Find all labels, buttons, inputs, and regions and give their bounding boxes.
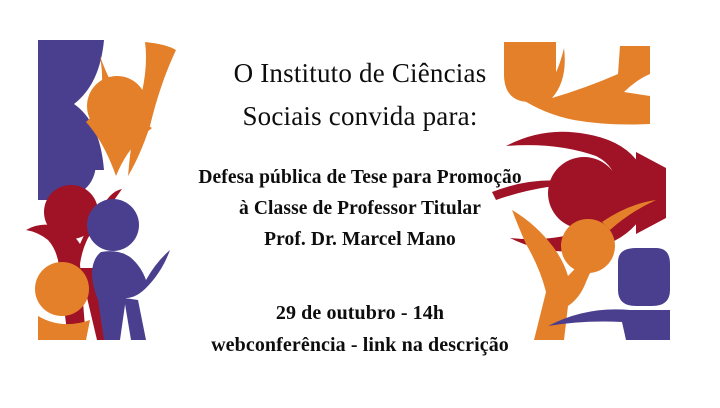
footer-line-1: 29 de outubro - 14h (276, 297, 444, 329)
body-line-3: Prof. Dr. Marcel Mano (264, 225, 456, 256)
orange-circle-head-left (87, 76, 147, 136)
body-line-1: Defesa pública de Tese para Promoção (198, 163, 521, 194)
dark-red-figure-second-leg (80, 268, 112, 340)
poster-text-stack: O Instituto de Ciências Sociais convida … (150, 0, 570, 408)
purple-seated-figure-head (618, 248, 670, 306)
invitation-poster: O Instituto de Ciências Sociais convida … (0, 0, 720, 408)
dark-red-body-block (636, 152, 666, 234)
dark-red-dancing-figure (26, 189, 122, 340)
headline-line-2: Sociais convida para: (242, 96, 477, 137)
orange-circle-head-lower-left (35, 262, 89, 316)
footer-line-2: webconferência - link na descrição (211, 329, 509, 361)
headline-line-1: O Instituto de Ciências (234, 53, 487, 94)
dark-red-circle-head-left (44, 185, 98, 239)
purple-circle-head-left (87, 199, 139, 251)
purple-figure-top-left (38, 40, 104, 170)
orange-figure-arc (86, 56, 152, 176)
orange-base-shape (38, 316, 90, 340)
purple-figure-second-leg (124, 298, 146, 340)
purple-figure-lower-lobe (38, 122, 96, 200)
body-line-2: à Classe de Professor Titular (239, 194, 481, 225)
orange-arc-accent (602, 200, 656, 230)
